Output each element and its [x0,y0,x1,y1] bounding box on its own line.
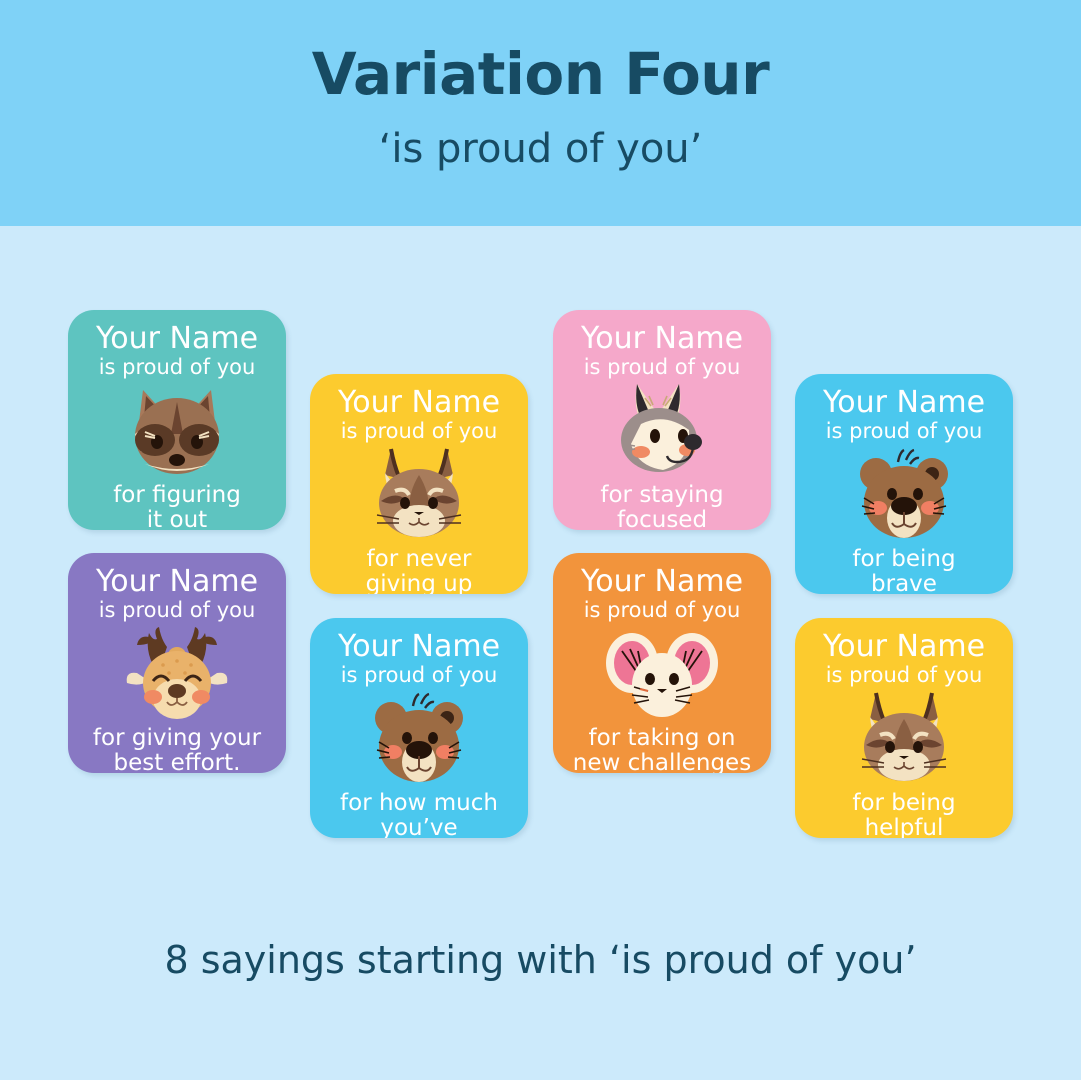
page-subtitle: ‘is proud of you’ [0,105,1081,171]
footer-caption: 8 sayings starting with ‘is proud of you… [164,900,916,984]
sticker-proud-line: is proud of you [99,355,256,379]
sticker-card[interactable]: Your Name is proud of you for sta [553,310,771,530]
sticker-card[interactable]: Your Name is proud of you [68,310,286,530]
sticker-name-line: Your Name [96,567,258,597]
sticker-name-line: Your Name [338,388,500,418]
raccoon-icon [119,381,235,479]
sticker-proud-line: is proud of you [584,355,741,379]
sticker-name-line: Your Name [823,388,985,418]
sticker-reason: for taking on new challenges [573,726,751,773]
sticker-reason: for staying focused [600,483,723,530]
sticker-card[interactable]: Your Name is proud of you [68,553,286,773]
sticker-proud-line: is proud of you [584,598,741,622]
bear-icon [363,689,475,787]
sticker-reason: for being helpful [852,791,955,838]
sticker-name-line: Your Name [581,567,743,597]
sticker-reason: for giving your best effort. [93,726,261,773]
sticker-card[interactable]: Your Name is proud of you [795,618,1013,838]
page-title: Variation Four [0,0,1081,105]
sticker-card[interactable]: Your Name is proud of you for how much y… [310,618,528,838]
mouse-icon [604,624,720,722]
sticker-proud-line: is proud of you [341,663,498,687]
footer: 8 sayings starting with ‘is proud of you… [0,900,1081,1080]
bear-icon [848,445,960,543]
sticker-reason: for figuring it out [113,483,241,530]
sticker-name-line: Your Name [96,324,258,354]
sticker-reason: for never giving up [366,547,473,594]
sticker-proud-line: is proud of you [99,598,256,622]
sticker-name-line: Your Name [338,632,500,662]
sticker-proud-line: is proud of you [826,663,983,687]
sticker-card[interactable]: Your Name is proud of you for taking on … [553,553,771,773]
sticker-reason: for how much you’ve improved. [320,791,518,838]
sticker-board: Your Name is proud of you [0,226,1081,900]
sticker-card[interactable]: Your Name is proud of you [310,374,528,594]
lynx-icon [846,689,962,787]
deer-icon [119,624,235,722]
header-band: Variation Four ‘is proud of you’ [0,0,1081,226]
wolf-icon [607,381,717,479]
sticker-reason: for being brave [852,547,955,594]
sticker-name-line: Your Name [581,324,743,354]
sticker-name-line: Your Name [823,632,985,662]
sticker-proud-line: is proud of you [341,419,498,443]
sticker-card[interactable]: Your Name is proud of you for being brav… [795,374,1013,594]
lynx-icon [361,445,477,543]
sticker-proud-line: is proud of you [826,419,983,443]
